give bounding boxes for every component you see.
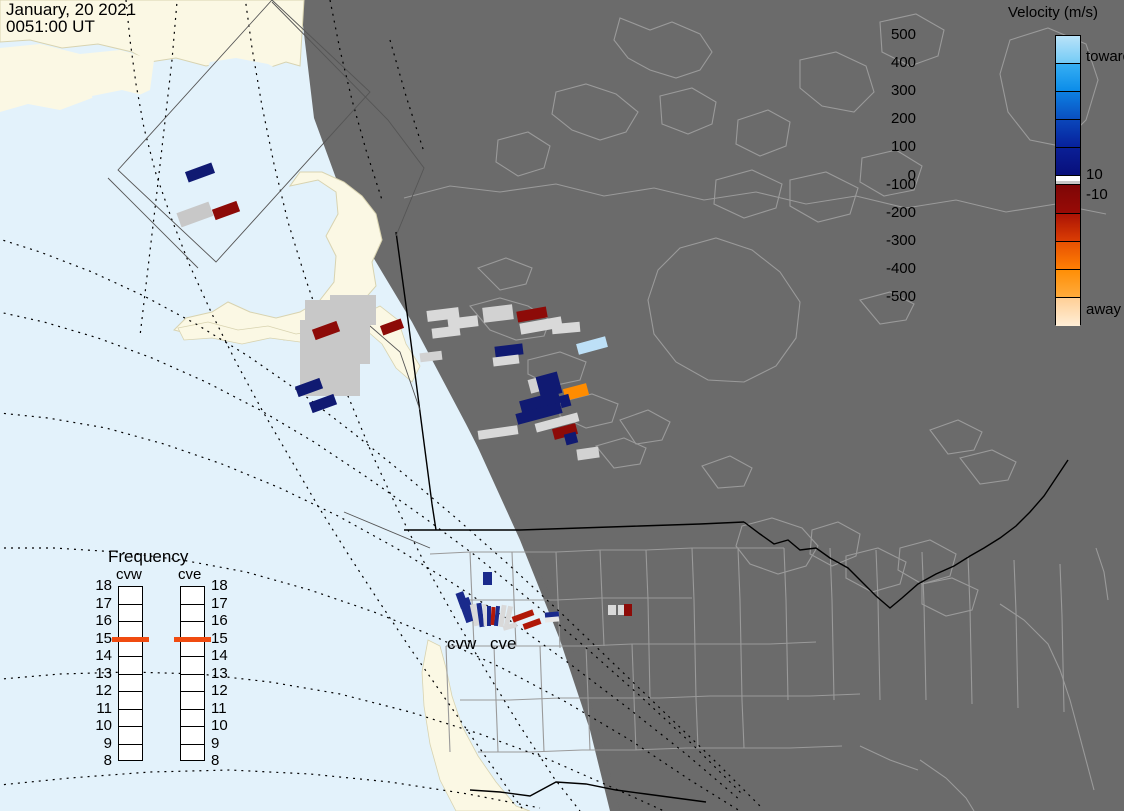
title-time: 0051:00 UT [6,18,136,35]
frequency-tick-label: 18 [90,577,112,594]
velocity-cell [185,163,215,183]
frequency-tick-label: 10 [90,717,112,734]
velocity-cell [608,605,616,615]
frequency-tick-label: 13 [211,665,233,682]
velocity-cell [494,343,523,357]
frequency-tick-label: 11 [90,700,112,717]
velocity-cell [380,319,404,336]
frequency-marker-cvw [112,637,149,642]
velocity-cell [478,425,519,439]
frequency-cell [181,640,204,658]
frequency-cell [181,692,204,710]
frequency-tick-label: 10 [211,717,233,734]
frequency-cell [181,745,204,763]
colorbar-band [1056,120,1080,148]
frequency-cell [181,605,204,623]
title-date: January, 20 2021 [6,1,136,18]
colorbar-tick-label: -100 [870,176,916,193]
frequency-tick-label: 14 [211,647,233,664]
colorbar-inner-positive-label: 10 [1086,166,1103,183]
colorbar-away-label: away [1086,301,1121,318]
colorbar-band [1056,270,1080,298]
frequency-scale-cvw [118,586,143,761]
velocity-cell [482,304,514,323]
velocity-cell [523,618,542,630]
timestamp-title: January, 20 2021 0051:00 UT [6,1,136,35]
frequency-tick-label: 8 [211,752,233,769]
frequency-cell [119,640,142,658]
colorbar-band [1056,214,1080,242]
colorbar-band [1056,148,1080,176]
colorbar-bands [1055,35,1081,325]
colorbar-tick-label: -400 [870,260,916,277]
frequency-tick-label: 16 [211,612,233,629]
frequency-cell [119,745,142,763]
frequency-column-label-cvw: cvw [116,566,142,583]
frequency-tick-label: 12 [90,682,112,699]
frequency-tick-label: 17 [90,595,112,612]
velocity-cells-layer [0,0,1124,811]
frequency-legend-title: Frequency [108,547,188,567]
colorbar-tick-label: 300 [870,82,916,99]
velocity-cell [512,609,535,622]
frequency-tick-label: 18 [211,577,233,594]
frequency-cell [119,657,142,675]
velocity-cell [487,606,491,626]
velocity-cell [431,325,460,338]
frequency-tick-label: 13 [90,665,112,682]
velocity-cell [483,572,492,585]
colorbar-band [1056,185,1080,213]
velocity-cell [309,394,337,413]
frequency-tick-label: 14 [90,647,112,664]
velocity-cell [420,351,443,363]
colorbar-tick-label: 400 [870,54,916,71]
colorbar-band [1056,36,1080,64]
frequency-cell [119,675,142,693]
frequency-column-label-cve: cve [178,566,201,583]
frequency-tick-label: 17 [211,595,233,612]
velocity-cell [576,447,599,461]
frequency-tick-label: 16 [90,612,112,629]
colorbar-toward-label: toward [1086,48,1124,65]
colorbar-band [1056,92,1080,120]
colorbar-band [1056,298,1080,326]
frequency-tick-label: 15 [90,630,112,647]
colorbar-inner-negative-label: -10 [1086,186,1108,203]
velocity-cell [305,300,333,322]
frequency-tick-label: 15 [211,630,233,647]
station-label-cvw: cvw [447,634,476,654]
colorbar-tick-label: 100 [870,138,916,155]
frequency-cell [119,710,142,728]
frequency-cell [181,710,204,728]
frequency-cell [119,587,142,605]
frequency-tick-label: 11 [211,700,233,717]
colorbar-band [1056,242,1080,270]
velocity-cell [576,336,608,354]
frequency-cell [119,692,142,710]
frequency-tick-label: 9 [211,735,233,752]
frequency-marker-cve [174,637,211,642]
velocity-cell [618,605,624,615]
frequency-tick-label: 9 [90,735,112,752]
station-label-cve: cve [490,634,516,654]
colorbar-tick-label: -200 [870,204,916,221]
velocity-cell [176,202,213,228]
radar-velocity-map: January, 20 2021 0051:00 UT Velocity (m/… [0,0,1124,811]
colorbar-band [1056,64,1080,92]
colorbar-tick-label: -300 [870,232,916,249]
frequency-tick-label: 12 [211,682,233,699]
frequency-cell [181,587,204,605]
frequency-tick-label: 8 [90,752,112,769]
frequency-cell [181,675,204,693]
frequency-cell [119,605,142,623]
colorbar-title: Velocity (m/s) [1008,4,1124,21]
frequency-cell [119,727,142,745]
velocity-cell [212,201,240,220]
colorbar-tick-label: 500 [870,26,916,43]
colorbar-tick-label: -500 [870,288,916,305]
colorbar-tick-label: 200 [870,110,916,127]
frequency-cell [181,727,204,745]
frequency-scale-cve [180,586,205,761]
velocity-cell [624,604,632,616]
frequency-cell [181,657,204,675]
